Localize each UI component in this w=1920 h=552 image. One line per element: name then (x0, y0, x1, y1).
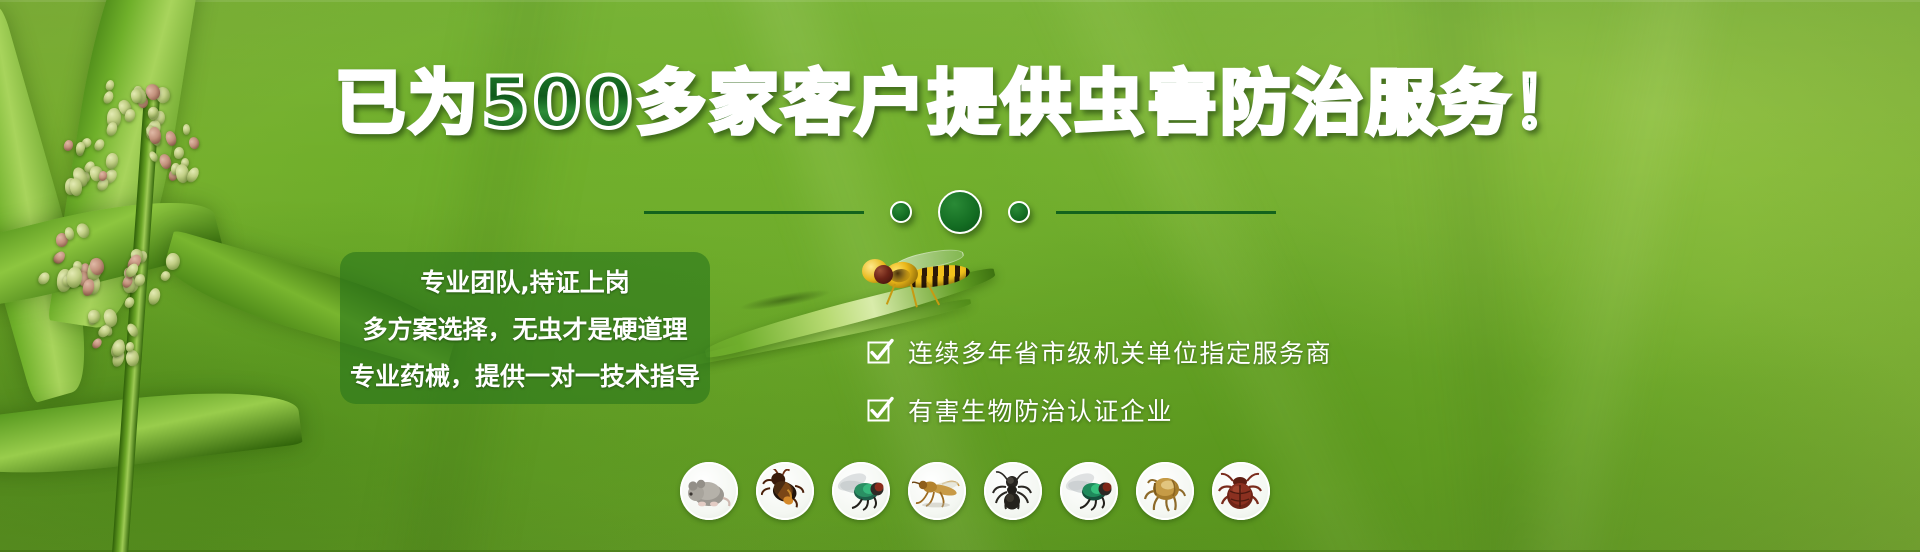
pest-icon-mosquito[interactable] (908, 462, 966, 520)
decorative-divider (0, 184, 1920, 240)
pest-icon-fly[interactable] (832, 462, 890, 520)
bedbug-icon (1217, 469, 1265, 513)
divider-dot-small-left (890, 201, 912, 223)
divider-line-left (644, 211, 864, 214)
pest-icon-bedbug[interactable] (1212, 462, 1270, 520)
certification-item: 有害生物防治认证企业 (866, 392, 1332, 428)
fly-icon (836, 470, 886, 512)
certification-label: 有害生物防治认证企业 (908, 392, 1173, 428)
claim-line-3: 专业药械，提供一对一技术指导 (350, 357, 700, 393)
ant-icon (990, 469, 1036, 513)
checkbox-checked-icon (866, 396, 894, 424)
mosquito-icon (912, 470, 962, 512)
mouse-icon (685, 471, 733, 511)
claims-panel: 专业团队,持证上岗 多方案选择，无虫才是硬道理 专业药械，提供一对一技术指导 (340, 252, 710, 404)
blowfly-icon (1064, 470, 1114, 512)
pest-control-hero-banner: 已为500多家客户提供虫害防治服务！ 专业团队,持证上岗 多方案选择，无虫才是硬… (0, 0, 1920, 552)
pest-type-icon-strip (680, 462, 1270, 520)
claim-line-2: 多方案选择，无虫才是硬道理 (362, 310, 687, 346)
divider-dot-small-right (1008, 201, 1030, 223)
certification-list: 连续多年省市级机关单位指定服务商 有害生物防治认证企业 (866, 334, 1332, 428)
banner-top-edge (0, 0, 1920, 2)
pest-icon-mouse[interactable] (680, 462, 738, 520)
page-title: 已为500多家客户提供虫害防治服务！ (0, 68, 1920, 138)
cockroach-icon (761, 469, 809, 513)
pest-icon-flea[interactable] (1136, 462, 1194, 520)
pest-icon-ant[interactable] (984, 462, 1042, 520)
certification-item: 连续多年省市级机关单位指定服务商 (866, 334, 1332, 370)
certification-label: 连续多年省市级机关单位指定服务商 (908, 334, 1332, 370)
pest-icon-blowfly[interactable] (1060, 462, 1118, 520)
claim-line-1: 专业团队,持证上岗 (420, 263, 630, 299)
checkbox-checked-icon (866, 338, 894, 366)
flea-icon (1141, 469, 1189, 513)
divider-line-right (1056, 211, 1276, 214)
pest-icon-cockroach[interactable] (756, 462, 814, 520)
divider-dot-large (938, 190, 982, 234)
